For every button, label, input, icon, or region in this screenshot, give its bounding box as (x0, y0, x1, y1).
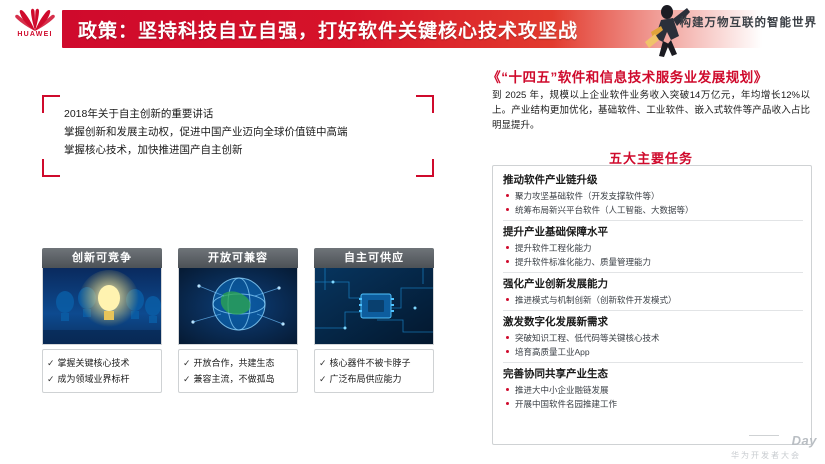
bullet-item: ✓广泛布局供应能力 (319, 371, 429, 387)
task-sub-text: 开展中国软件名园推建工作 (515, 399, 617, 409)
task-sub: 推进大中小企业融链发展 (503, 383, 803, 397)
task-heading: 提升产业基础保障水平 (503, 224, 803, 241)
check-icon: ✓ (183, 374, 191, 384)
task-sub: 推进模式与机制创新（创新软件开发模式） (503, 293, 803, 307)
bullet-dot-icon (506, 298, 509, 301)
task-heading: 激发数字化发展新需求 (503, 314, 803, 331)
task-sub: 开展中国软件名园推建工作 (503, 397, 803, 411)
huawei-petal-icon (8, 8, 62, 30)
bullet-text: 掌握关键核心技术 (58, 358, 130, 368)
bullet-dot-icon (506, 194, 509, 197)
task-item: 强化产业创新发展能力 推进模式与机制创新（创新软件开发模式） (503, 276, 803, 307)
task-sub: 提升软件工程化能力 (503, 241, 803, 255)
plan-paragraph: 到 2025 年，规模以上企业软件业务收入突破14万亿元，年均增长12%以上。产… (492, 88, 810, 133)
corner-bottom-left (42, 159, 60, 177)
bullet-text: 成为领域业界标杆 (58, 374, 130, 384)
divider (503, 220, 803, 221)
capability-cards: 创新可竞争 (42, 248, 434, 418)
quote-line: 掌握创新和发展主动权，促进中国产业迈向全球价值链中高端 (42, 123, 348, 141)
card-title: 创新可竞争 (42, 248, 162, 268)
huawei-logo: HUAWEI (6, 8, 64, 50)
task-sub-text: 聚力攻坚基础软件（开发支撑软件等） (515, 191, 660, 201)
card-title: 自主可供应 (314, 248, 434, 268)
page-title: 政策：坚持科技自立自强，打好软件关键核心技术攻坚战 (78, 16, 578, 43)
bullet-dot-icon (506, 246, 509, 249)
slide-header: HUAWEI 政策：坚持科技自立自强，打好软件关键核心技术攻坚战 构建万物互联的… (0, 0, 825, 58)
task-sub-text: 培育高质量工业App (515, 347, 590, 357)
task-item: 完善协同共享产业生态 推进大中小企业融链发展 开展中国软件名园推建工作 (503, 366, 803, 411)
header-tagline: 构建万物互联的智能世界 (680, 14, 818, 30)
check-icon: ✓ (319, 374, 327, 384)
card-bullets: ✓开放合作，共建生态 ✓兼容主流，不做孤岛 (178, 349, 298, 393)
task-item: 推动软件产业链升级 聚力攻坚基础软件（开发支撑软件等） 统筹布局新兴平台软件（人… (503, 172, 803, 217)
card-bullets: ✓核心器件不被卡脖子 ✓广泛布局供应能力 (314, 349, 434, 393)
huawei-wordmark: HUAWEI (6, 31, 64, 38)
card-openness: 开放可兼容 (178, 248, 298, 393)
divider (503, 362, 803, 363)
task-sub-text: 统筹布局新兴平台软件（人工智能、大数据等） (515, 205, 694, 215)
card-supply: 自主可供应 (314, 248, 434, 393)
bullet-text: 开放合作，共建生态 (194, 358, 275, 368)
bullet-item: ✓核心器件不被卡脖子 (319, 355, 429, 371)
plan-title: 《“十四五”软件和信息技术服务业发展规划》 (440, 66, 815, 86)
bullet-item: ✓开放合作，共建生态 (183, 355, 293, 371)
task-item: 提升产业基础保障水平 提升软件工程化能力 提升软件标准化能力、质量管理能力 (503, 224, 803, 269)
footer-divider (749, 435, 779, 436)
card-innovation: 创新可竞争 (42, 248, 162, 393)
task-sub-text: 突破知识工程、低代码等关键核心技术 (515, 333, 660, 343)
task-sub: 统筹布局新兴平台软件（人工智能、大数据等） (503, 203, 803, 217)
globe-network-image (178, 268, 298, 345)
task-heading: 完善协同共享产业生态 (503, 366, 803, 383)
task-sub: 聚力攻坚基础软件（开发支撑软件等） (503, 189, 803, 203)
task-sub: 突破知识工程、低代码等关键核心技术 (503, 331, 803, 345)
quote-line: 掌握核心技术，加快推进国产自主创新 (42, 141, 348, 159)
bullet-item: ✓掌握关键核心技术 (47, 355, 157, 371)
task-sub: 培育高质量工业App (503, 345, 803, 359)
tasks-panel: 推动软件产业链升级 聚力攻坚基础软件（开发支撑软件等） 统筹布局新兴平台软件（人… (492, 165, 812, 445)
task-sub-text: 推进大中小企业融链发展 (515, 385, 609, 395)
card-title: 开放可兼容 (178, 248, 298, 268)
lightbulbs-idea-image (42, 268, 162, 345)
bullet-text: 核心器件不被卡脖子 (330, 358, 411, 368)
bullet-dot-icon (506, 260, 509, 263)
bullet-text: 广泛布局供应能力 (330, 374, 402, 384)
task-heading: 推动软件产业链升级 (503, 172, 803, 189)
bullet-dot-icon (506, 208, 509, 211)
bullet-text: 兼容主流，不做孤岛 (194, 374, 275, 384)
bullet-item: ✓成为领域业界标杆 (47, 371, 157, 387)
bullet-dot-icon (506, 388, 509, 391)
footer-watermark: Day (792, 433, 817, 448)
circuit-chip-image (314, 268, 434, 345)
bullet-dot-icon (506, 402, 509, 405)
corner-bottom-right (416, 159, 434, 177)
bullet-item: ✓兼容主流，不做孤岛 (183, 371, 293, 387)
quote-callout-box: 2018年关于自主创新的重要讲话 掌握创新和发展主动权，促进中国产业迈向全球价值… (42, 95, 434, 177)
task-heading: 强化产业创新发展能力 (503, 276, 803, 293)
task-sub-text: 提升软件标准化能力、质量管理能力 (515, 257, 651, 267)
footer-subtitle: 华为开发者大会 (731, 450, 801, 461)
corner-top-right (416, 95, 434, 113)
check-icon: ✓ (183, 358, 191, 368)
task-item: 激发数字化发展新需求 突破知识工程、低代码等关键核心技术 培育高质量工业App (503, 314, 803, 359)
quote-line: 2018年关于自主创新的重要讲话 (42, 105, 348, 123)
task-sub-text: 推进模式与机制创新（创新软件开发模式） (515, 295, 677, 305)
decorative-figure-image (637, 2, 697, 58)
divider (503, 272, 803, 273)
card-bullets: ✓掌握关键核心技术 ✓成为领域业界标杆 (42, 349, 162, 393)
task-sub: 提升软件标准化能力、质量管理能力 (503, 255, 803, 269)
quote-lines: 2018年关于自主创新的重要讲话 掌握创新和发展主动权，促进中国产业迈向全球价值… (42, 105, 348, 159)
check-icon: ✓ (47, 358, 55, 368)
task-sub-text: 提升软件工程化能力 (515, 243, 592, 253)
bullet-dot-icon (506, 350, 509, 353)
divider (503, 310, 803, 311)
slide-root: HUAWEI 政策：坚持科技自立自强，打好软件关键核心技术攻坚战 构建万物互联的… (0, 0, 825, 464)
check-icon: ✓ (319, 358, 327, 368)
bullet-dot-icon (506, 336, 509, 339)
check-icon: ✓ (47, 374, 55, 384)
